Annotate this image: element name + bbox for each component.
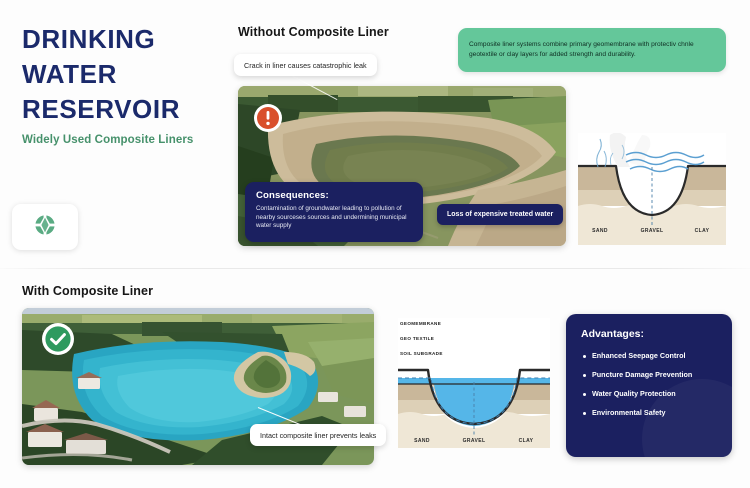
svg-text:SAND: SAND <box>592 228 608 234</box>
title-line-2: WATER <box>22 57 222 92</box>
advantage-item: Environmental Safety <box>581 408 717 418</box>
alert-exclamation-icon <box>253 103 283 138</box>
bullet-icon <box>583 412 586 415</box>
intact-liner-callout: Intact composite liner prevents leaks <box>250 424 386 446</box>
advantage-label: Enhanced Seepage Control <box>592 351 685 361</box>
layer-label-soil-subgrade: SOIL SUBGRADE <box>400 350 480 357</box>
consequences-body: Contamination of groundwater leading to … <box>256 205 412 231</box>
title-line-3: RESERVOIR <box>22 92 222 127</box>
brand-logo-card <box>12 204 78 250</box>
infographic-page: DRINKING WATER RESERVOIR Widely Used Com… <box>0 0 750 488</box>
advantage-label: Water Quality Protection <box>592 389 676 399</box>
consequences-title: Consequences: <box>256 190 412 201</box>
bullet-icon <box>583 355 586 358</box>
bullet-icon <box>583 393 586 396</box>
section-header-without-liner: Without Composite Liner <box>238 25 389 39</box>
info-note-text: Composite liner systems combine primary … <box>469 40 715 61</box>
page-subtitle: Widely Used Composite Liners <box>22 134 222 146</box>
consequences-panel: Consequences: Contamination of groundwat… <box>245 182 423 242</box>
svg-text:CLAY: CLAY <box>695 228 710 234</box>
leaf-diamond-logo-icon <box>32 212 58 243</box>
composite-liner-info-note: Composite liner systems combine primary … <box>458 28 726 72</box>
crack-liner-callout: Crack in liner causes catastrophic leak <box>234 54 377 76</box>
advantage-item: Puncture Damage Prevention <box>581 370 717 380</box>
advantage-label: Puncture Damage Prevention <box>592 370 692 380</box>
bullet-icon <box>583 374 586 377</box>
advantages-title: Advantages: <box>581 328 717 340</box>
svg-text:GRAVEL: GRAVEL <box>463 438 486 444</box>
advantages-panel: Advantages: Enhanced Seepage Control Pun… <box>566 314 732 457</box>
section-header-with-liner: With Composite Liner <box>22 284 153 298</box>
leaking-reservoir-cross-section: SAND GRAVEL CLAY <box>578 133 726 245</box>
advantage-label: Environmental Safety <box>592 408 666 418</box>
svg-text:SAND: SAND <box>414 438 430 444</box>
page-title: DRINKING WATER RESERVOIR Widely Used Com… <box>22 22 222 146</box>
advantage-item: Water Quality Protection <box>581 389 717 399</box>
layer-label-geotextile: GEO TEXTILE <box>400 335 480 342</box>
advantage-item: Enhanced Seepage Control <box>581 351 717 361</box>
layer-label-geomembrane: GEOMEMBRANE <box>400 320 480 327</box>
svg-text:GRAVEL: GRAVEL <box>641 228 664 234</box>
title-line-1: DRINKING <box>22 22 222 57</box>
loss-of-water-callout: Loss of expensive treated water <box>437 204 563 225</box>
svg-text:CLAY: CLAY <box>519 438 534 444</box>
check-circle-icon <box>41 322 75 361</box>
liner-layer-labels: GEOMEMBRANE GEO TEXTILE SOIL SUBGRADE <box>400 320 480 365</box>
section-divider <box>0 268 750 269</box>
